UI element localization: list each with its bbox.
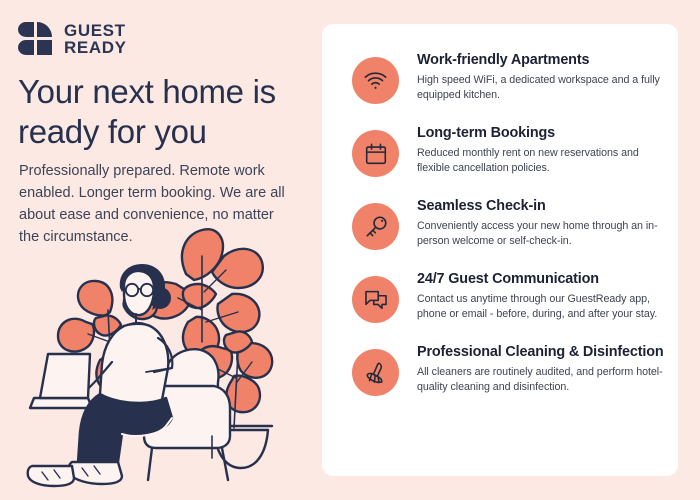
brand-logo[interactable]: GUEST READY bbox=[17, 21, 127, 57]
brand-wordmark: GUEST READY bbox=[64, 22, 127, 56]
wifi-icon bbox=[352, 57, 399, 104]
feature-item: Long-term Bookings Reduced monthly rent … bbox=[352, 124, 664, 177]
feature-title: 24/7 Guest Communication bbox=[417, 270, 664, 288]
left-column: GUEST READY Your next home is ready for … bbox=[0, 0, 322, 500]
feature-title: Seamless Check-in bbox=[417, 197, 664, 215]
feature-text: 24/7 Guest Communication Contact us anyt… bbox=[417, 270, 664, 321]
guestready-squares-logo-icon bbox=[17, 21, 55, 57]
marketing-infographic: GUEST READY Your next home is ready for … bbox=[0, 0, 700, 500]
key-icon bbox=[352, 203, 399, 250]
feature-description: Conveniently access your new home throug… bbox=[417, 219, 664, 248]
feature-text: Long-term Bookings Reduced monthly rent … bbox=[417, 124, 664, 175]
feature-description: All cleaners are routinely audited, and … bbox=[417, 365, 664, 394]
feature-item: 24/7 Guest Communication Contact us anyt… bbox=[352, 270, 664, 323]
features-panel: Work-friendly Apartments High speed WiFi… bbox=[322, 24, 678, 476]
feature-description: Reduced monthly rent on new reservations… bbox=[417, 146, 664, 175]
feature-text: Work-friendly Apartments High speed WiFi… bbox=[417, 51, 664, 102]
feature-text: Seamless Check-in Conveniently access yo… bbox=[417, 197, 664, 248]
broom-icon bbox=[352, 349, 399, 396]
brand-line-2: READY bbox=[64, 39, 127, 56]
feature-title: Professional Cleaning & Disinfection bbox=[417, 343, 664, 361]
feature-description: High speed WiFi, a dedicated workspace a… bbox=[417, 73, 664, 102]
calendar-icon bbox=[352, 130, 399, 177]
feature-item: Seamless Check-in Conveniently access yo… bbox=[352, 197, 664, 250]
feature-item: Work-friendly Apartments High speed WiFi… bbox=[352, 51, 664, 104]
feature-item: Professional Cleaning & Disinfection All… bbox=[352, 343, 664, 396]
feature-title: Long-term Bookings bbox=[417, 124, 664, 142]
brand-line-1: GUEST bbox=[64, 22, 127, 39]
chat-bubbles-icon bbox=[352, 276, 399, 323]
hero-illustration bbox=[26, 222, 316, 490]
page-title: Your next home is ready for you bbox=[18, 72, 308, 152]
feature-text: Professional Cleaning & Disinfection All… bbox=[417, 343, 664, 394]
feature-description: Contact us anytime through our GuestRead… bbox=[417, 292, 664, 321]
feature-list: Work-friendly Apartments High speed WiFi… bbox=[352, 51, 664, 396]
feature-title: Work-friendly Apartments bbox=[417, 51, 664, 69]
